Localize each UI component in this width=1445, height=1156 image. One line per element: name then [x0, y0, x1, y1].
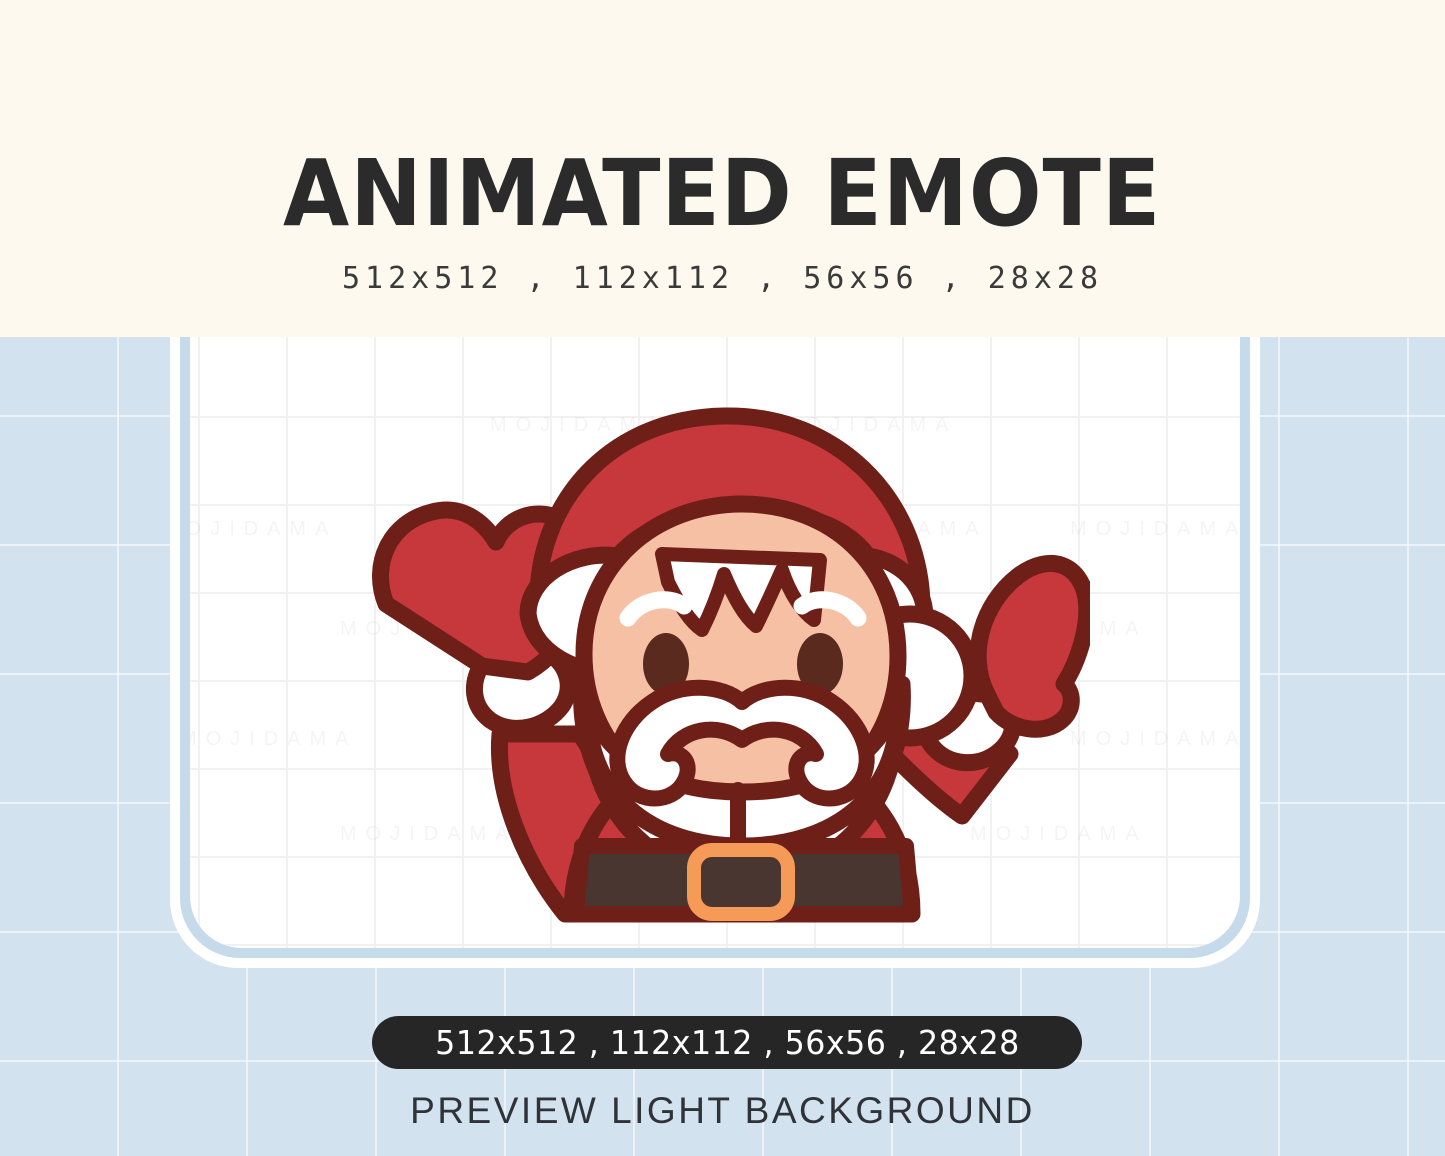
header-size-list: 512x512 , 112x112 , 56x56 , 28x28 [342, 261, 1103, 296]
size-badge-label: 512x512 , 112x112 , 56x56 , 28x28 [435, 1023, 1020, 1062]
page-title: ANIMATED EMOTE [283, 150, 1161, 237]
emote-stage [190, 318, 1240, 948]
size-badge: 512x512 , 112x112 , 56x56 , 28x28 [372, 1016, 1082, 1069]
preview-card: MOJIDAMA MOJIDAMA MOJIDAMA MOJIDAMA MOJI… [170, 318, 1260, 968]
preview-caption: PREVIEW LIGHT BACKGROUND [0, 1090, 1445, 1132]
santa-waving-emote-icon [350, 354, 1090, 948]
preview-card-surface: MOJIDAMA MOJIDAMA MOJIDAMA MOJIDAMA MOJI… [190, 318, 1240, 948]
preview-card-blue-ring: MOJIDAMA MOJIDAMA MOJIDAMA MOJIDAMA MOJI… [180, 318, 1250, 958]
page-background: MOJIDAMA MOJIDAMA MOJIDAMA MOJIDAMA MOJI… [0, 0, 1445, 1156]
header-band: ANIMATED EMOTE 512x512 , 112x112 , 56x56… [0, 0, 1445, 337]
